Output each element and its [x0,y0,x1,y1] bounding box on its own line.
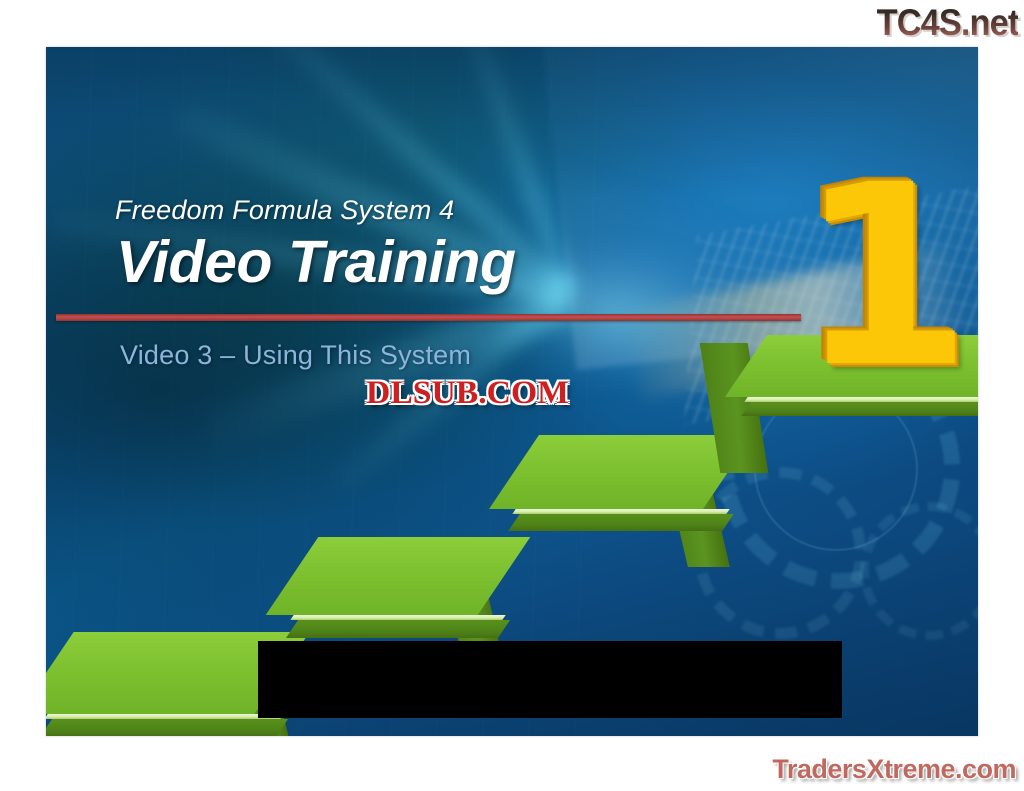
slide-eyebrow-text: Freedom Formula System 4 [115,195,454,226]
stair-step-2-top [266,537,531,615]
stair-step-3-front [508,514,733,531]
black-redaction-bar [258,641,842,718]
title-divider-rule [56,314,801,321]
stair-step-1-front [46,719,288,736]
tradersxtreme-watermark: TradersXtreme.com [772,754,1016,785]
dlsub-watermark: DLSUB.COM [366,375,569,412]
presentation-slide: 1 Freedom Formula System 4 Video Trainin… [46,47,978,736]
slide-title: Video Training [116,228,516,296]
screenshot-canvas: TC4S.net TC4S.net [0,0,1024,791]
stair-step-2-front [286,620,510,638]
tc4s-watermark: TC4S.net [876,2,1018,44]
gold-numeral-one: 1 [798,152,972,402]
slide-subtitle: Video 3 – Using This System [120,340,471,371]
